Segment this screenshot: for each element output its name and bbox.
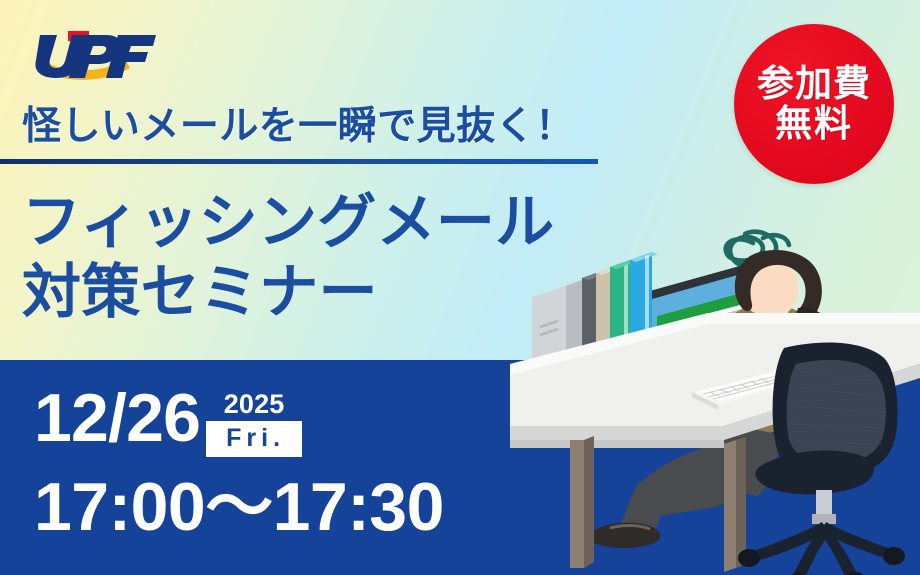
event-year: 2025 [206,391,302,421]
event-day-of-week: Fri. [206,421,302,457]
free-admission-badge: 参加費 無料 [734,24,894,184]
page-title-line-1: フィッシングメール [22,188,554,258]
badge-line-2: 無料 [775,104,853,144]
event-date: 12/26 [34,386,200,451]
upf-logo [26,26,162,84]
seminar-banner: 怪しいメールを一瞬で見抜く！ フィッシングメール 対策セミナー 参加費 無料 1… [0,0,920,575]
event-time: 17:00〜17:30 [34,473,444,541]
badge-line-1: 参加費 [757,64,871,104]
event-date-meta: 2025 Fri. [206,391,302,457]
chair-base [750,522,894,575]
header-divider [0,159,598,164]
page-title-line-2: 対策セミナー [22,258,554,328]
banner-subtitle: 怪しいメールを一瞬で見抜く！ [22,95,575,151]
page-title: フィッシングメール 対策セミナー [22,188,554,327]
event-date-block: 12/26 2025 Fri. [34,386,302,457]
desk-scene-illustration [510,196,920,575]
